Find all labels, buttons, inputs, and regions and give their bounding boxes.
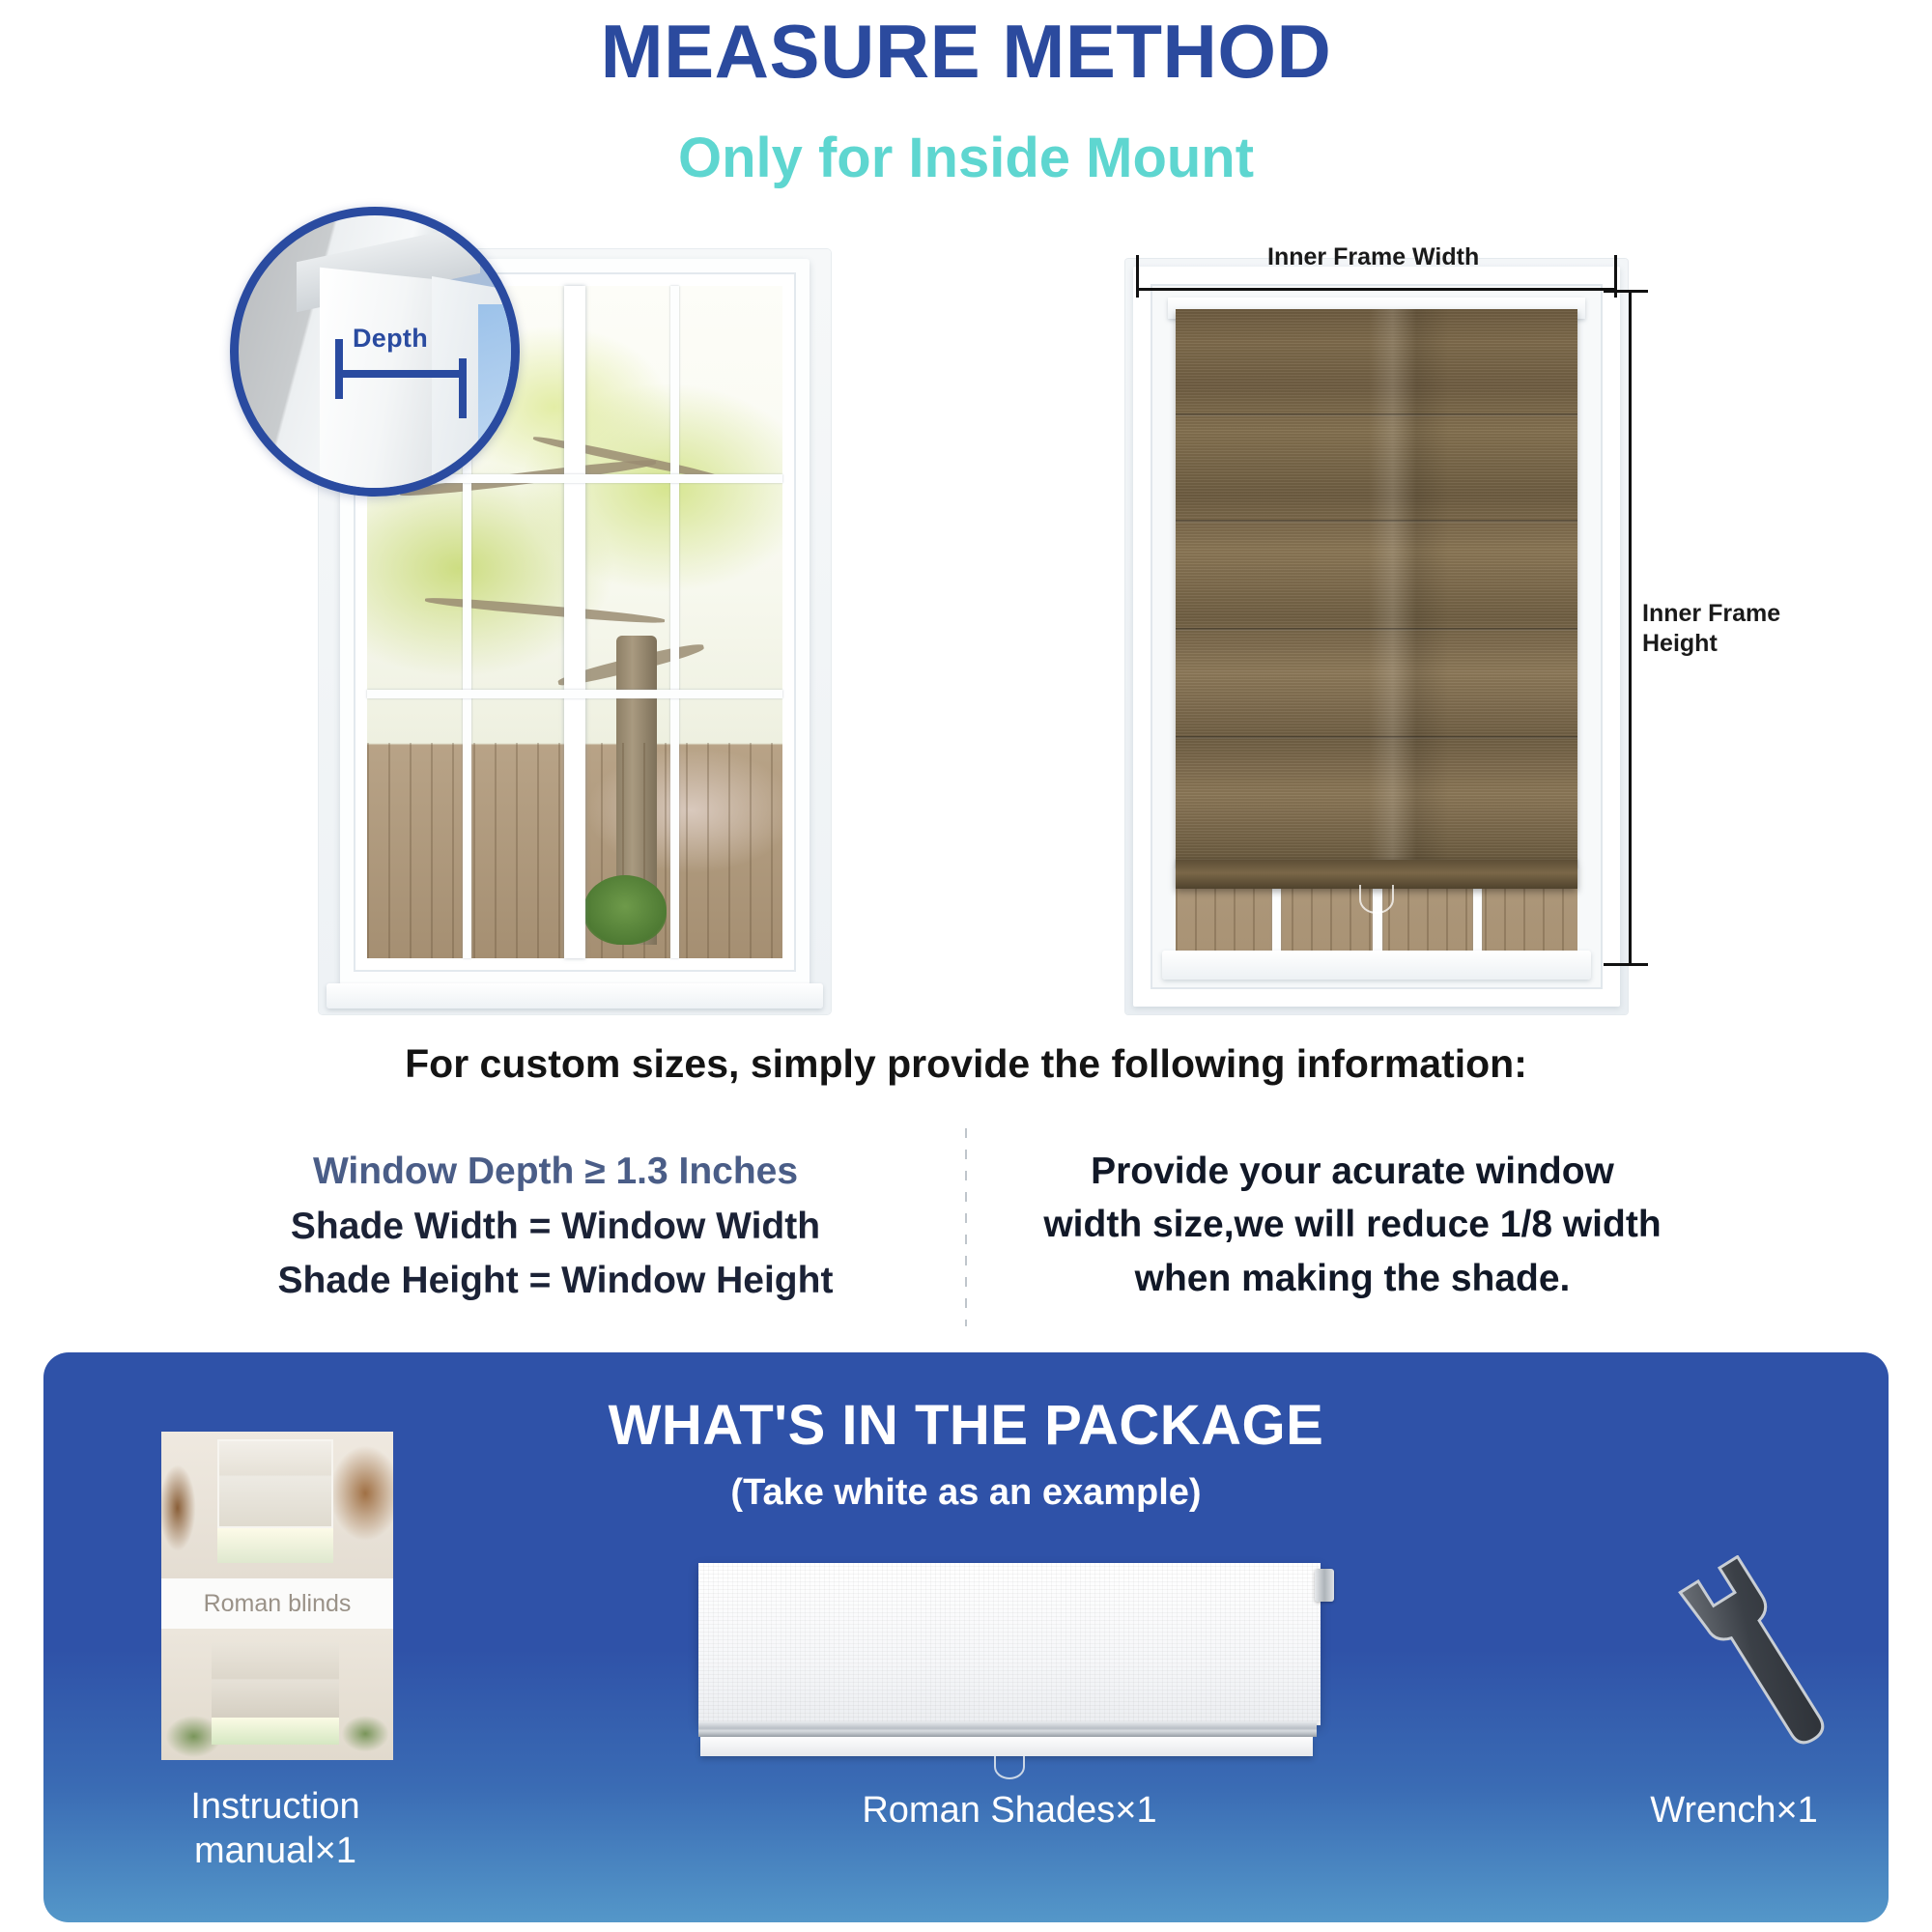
accuracy-note-line1: Provide your acurate window (1000, 1145, 1705, 1198)
shade-pull-loop (994, 1754, 1025, 1779)
depth-label: Depth (353, 324, 428, 354)
wrench-label: Wrench×1 (1541, 1789, 1889, 1833)
infographic-page: MEASURE METHOD Only for Inside Mount (0, 0, 1932, 1932)
shade-rail (698, 1721, 1317, 1737)
inner-frame-height-label-line2: Height (1642, 629, 1780, 659)
manual-roman-blind (212, 1642, 339, 1718)
instruction-column-left: Window Depth ≥ 1.3 Inches Shade Width = … (222, 1145, 889, 1309)
page-title: MEASURE METHOD (0, 8, 1932, 96)
manual-roman-blind (217, 1439, 333, 1528)
accuracy-note-line3: when making the shade. (1000, 1252, 1705, 1305)
shade-fold (1176, 736, 1577, 739)
roman-shade-fabric (1176, 309, 1577, 860)
depth-dimension-cap-left (335, 339, 343, 399)
shade-bottom-bar (700, 1737, 1313, 1756)
shade-fold (1176, 413, 1577, 416)
shade-width-rule: Shade Width = Window Width (222, 1200, 889, 1255)
inner-frame-height-label-line1: Inner Frame (1642, 599, 1780, 629)
manual-window-light (212, 1718, 339, 1745)
wrench-icon (1628, 1555, 1850, 1777)
height-tick-bottom (1604, 963, 1648, 966)
package-panel: WHAT'S IN THE PACKAGE (Take white as an … (43, 1352, 1889, 1922)
shade-height-rule: Shade Height = Window Height (222, 1254, 889, 1309)
inner-frame-width-label: Inner Frame Width (1267, 243, 1479, 271)
shade-fold (1176, 520, 1577, 523)
instruction-manual-label: Instruction manual×1 (82, 1785, 469, 1873)
shade-fold (1176, 628, 1577, 631)
depth-dimension-cap-right (459, 358, 467, 418)
roman-shade-product (698, 1563, 1321, 1756)
instruction-column-right: Provide your acurate window width size,w… (1000, 1145, 1705, 1305)
instruction-manual-label-line2: manual×1 (82, 1830, 469, 1874)
instruction-manual-thumbnail: Roman blinds (161, 1432, 393, 1760)
window-sill (327, 983, 823, 1009)
height-tick-top (1604, 290, 1648, 293)
custom-sizes-heading: For custom sizes, simply provide the fol… (0, 1041, 1932, 1087)
manual-photo-bottom (161, 1629, 393, 1760)
accuracy-note-line2: width size,we will reduce 1/8 width (1000, 1198, 1705, 1251)
shade-pull-loop (1359, 885, 1394, 914)
depth-dimension-bar (335, 370, 467, 378)
window-depth-requirement: Window Depth ≥ 1.3 Inches (222, 1145, 889, 1200)
fence-boards (367, 743, 782, 958)
shrub (583, 875, 667, 945)
page-subtitle: Only for Inside Mount (0, 126, 1932, 190)
mounted-shade-photo (1125, 259, 1628, 1014)
manual-caption-text: Roman blinds (204, 1590, 352, 1618)
width-tick-left (1136, 255, 1139, 298)
window-sill (1162, 951, 1591, 980)
shade-mounting-clip (1315, 1569, 1334, 1602)
manual-caption-band: Roman blinds (161, 1578, 393, 1629)
inner-frame-width-line (1136, 288, 1617, 291)
shade-fabric-panel (698, 1563, 1321, 1725)
instruction-manual-label-line1: Instruction (82, 1785, 469, 1830)
manual-photo-top (161, 1432, 393, 1578)
mount-window-frame (1133, 267, 1620, 1007)
roman-shades-label: Roman Shades×1 (720, 1789, 1299, 1833)
inner-frame-height-line (1629, 290, 1632, 966)
instruction-columns: Window Depth ≥ 1.3 Inches Shade Width = … (0, 1145, 1932, 1328)
manual-window-light (217, 1528, 333, 1563)
inner-frame-height-label: Inner Frame Height (1642, 599, 1780, 660)
depth-callout-circle: Depth (230, 207, 520, 497)
tree-branch (425, 595, 666, 626)
